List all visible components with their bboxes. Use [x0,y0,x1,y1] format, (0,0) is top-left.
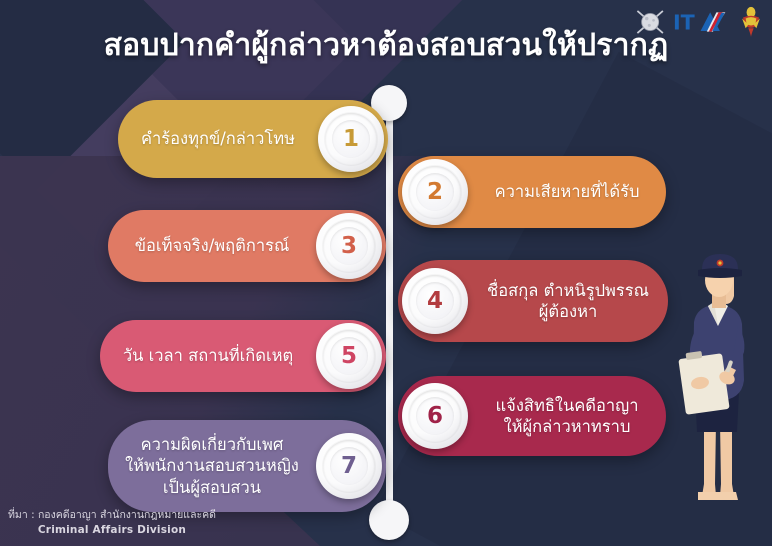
step-item-5[interactable]: 5วัน เวลา สถานที่เกิดเหตุ [100,320,386,392]
logo-group: IT [634,4,762,40]
step-label-7: ความผิดเกี่ยวกับเพศ ให้พนักงานสอบสวนหญิง… [108,434,316,497]
step-number-badge-1: 1 [318,106,384,172]
source-line-english: Criminal Affairs Division [8,523,216,538]
step-label-6: แจ้งสิทธิในคดีอาญา ให้ผู้กล่าวหาทราบ [468,395,666,437]
step-label-4: ชื่อสกุล ตำหนิรูปพรรณ ผู้ต้องหา [468,280,668,322]
step-label-1: คำร้องทุกข์/กล่าวโทษ [118,128,318,149]
infographic-canvas: สอบปากคำผู้กล่าวหาต้องสอบสวนให้ปรากฏ IT [0,0,772,546]
step-label-5: วัน เวลา สถานที่เกิดเหตุ [100,345,316,366]
step-number-badge-5: 5 [316,323,382,389]
step-number-badge-4: 4 [402,268,468,334]
garuda-emblem-icon [740,6,762,38]
step-item-1[interactable]: 1คำร้องทุกข์/กล่าวโทษ [118,100,388,178]
timeline-track [386,96,393,520]
mace-icon [634,5,668,39]
step-label-3: ข้อเท็จจริง/พฤติการณ์ [108,235,316,256]
step-number-badge-3: 3 [316,213,382,279]
step-number-badge-6: 6 [402,383,468,449]
step-number-7: 7 [341,455,357,478]
step-item-6[interactable]: 6แจ้งสิทธิในคดีอาญา ให้ผู้กล่าวหาทราบ [398,376,666,456]
step-item-7[interactable]: 7ความผิดเกี่ยวกับเพศ ให้พนักงานสอบสวนหญิ… [108,420,386,512]
step-item-3[interactable]: 3ข้อเท็จจริง/พฤติการณ์ [108,210,386,282]
step-number-6: 6 [427,405,443,428]
svg-text:IT: IT [673,11,695,35]
step-number-4: 4 [427,290,443,313]
source-line-thai: ที่มา : กองคดีอาญา สำนักงานกฎหมายและคดี [8,508,216,523]
female-police-officer-illustration [664,252,770,514]
ita-logo: IT [673,8,735,36]
source-footer: ที่มา : กองคดีอาญา สำนักงานกฎหมายและคดี … [8,508,216,538]
step-number-badge-2: 2 [402,159,468,225]
step-number-5: 5 [341,345,357,368]
step-number-2: 2 [427,181,443,204]
step-number-badge-7: 7 [316,433,382,499]
step-item-4[interactable]: 4ชื่อสกุล ตำหนิรูปพรรณ ผู้ต้องหา [398,260,668,342]
step-item-2[interactable]: 2ความเสียหายที่ได้รับ [398,156,666,228]
step-number-3: 3 [341,235,357,258]
step-label-2: ความเสียหายที่ได้รับ [468,181,666,202]
timeline-end-dot [369,500,409,540]
step-number-1: 1 [343,128,359,151]
